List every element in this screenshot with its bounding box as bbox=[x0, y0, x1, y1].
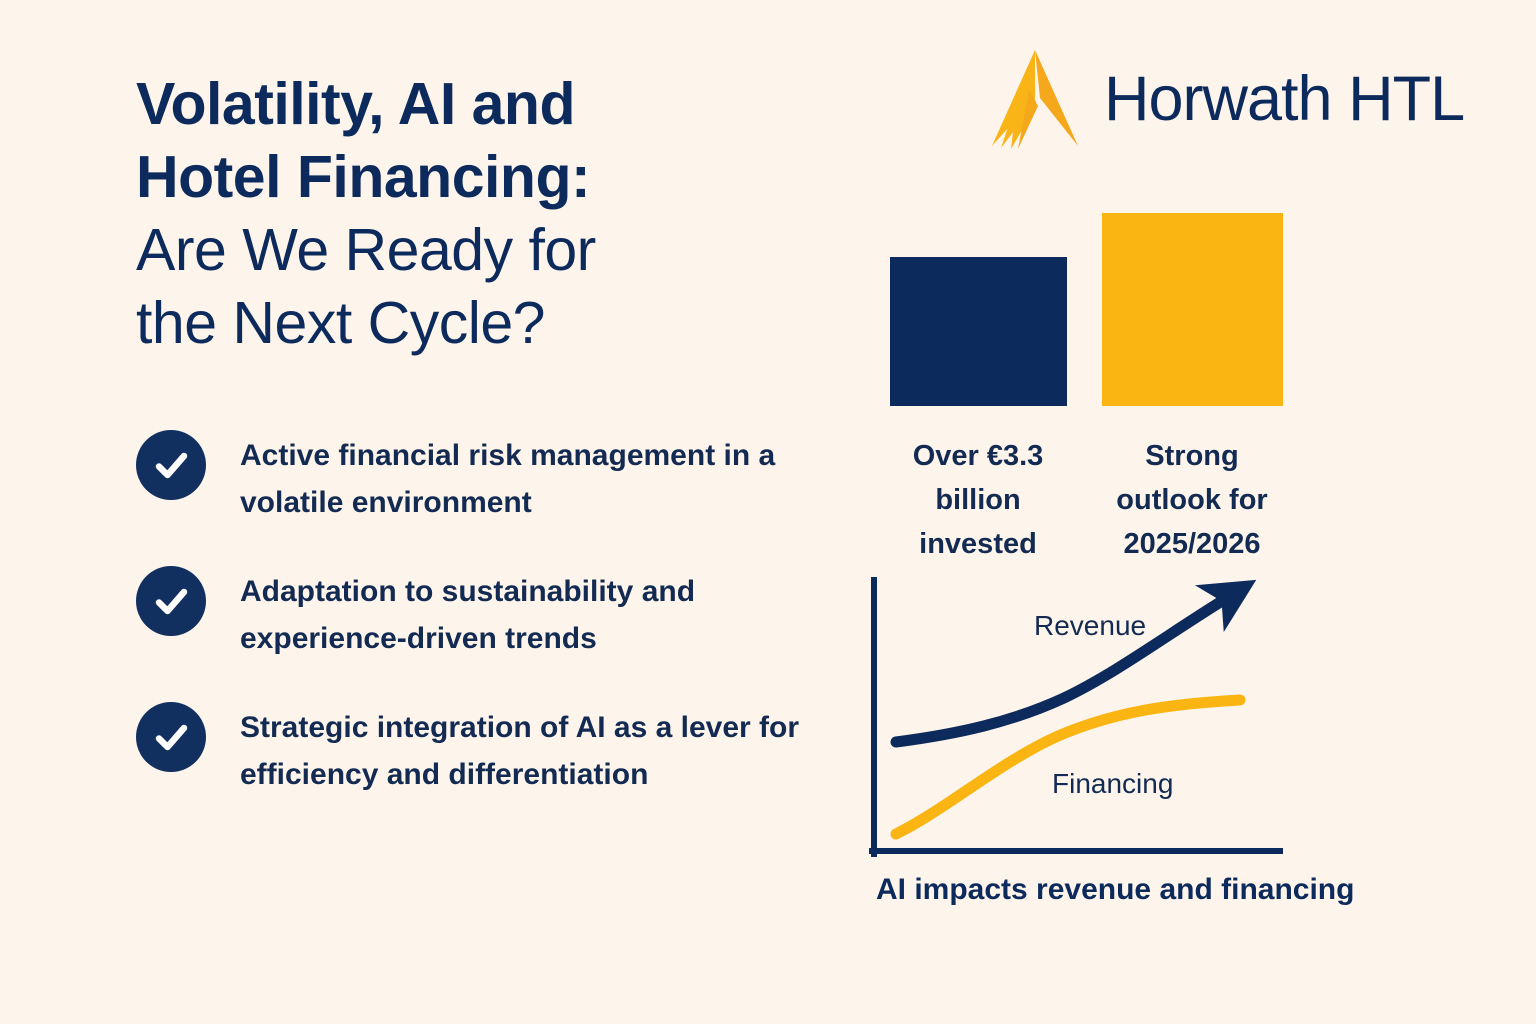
headline-line-2: Hotel Financing: bbox=[136, 141, 836, 214]
horwath-peak-logo-icon bbox=[978, 46, 1086, 152]
stat-caption: Over €3.3 billion invested bbox=[880, 434, 1076, 566]
stat-swatch-navy bbox=[890, 257, 1067, 406]
list-item-label: Strategic integration of AI as a lever f… bbox=[240, 700, 815, 798]
chart-caption: AI impacts revenue and financing bbox=[876, 873, 1354, 907]
list-item: Active financial risk management in a vo… bbox=[136, 428, 836, 526]
stat-caption: Strong outlook for 2025/2026 bbox=[1094, 434, 1290, 566]
brand-logo: Horwath HTL bbox=[978, 46, 1464, 152]
chart-label-revenue: Revenue bbox=[1034, 610, 1146, 642]
key-points-list: Active financial risk management in a vo… bbox=[136, 428, 836, 836]
chart-series-financing bbox=[896, 700, 1240, 834]
line-chart: Revenue Financing bbox=[862, 572, 1292, 862]
headline-line-3: Are We Ready for bbox=[136, 214, 836, 287]
left-content-column: Volatility, AI and Hotel Financing: Are … bbox=[136, 68, 836, 360]
headline-line-1: Volatility, AI and bbox=[136, 68, 836, 141]
list-item: Strategic integration of AI as a lever f… bbox=[136, 700, 836, 798]
chart-label-financing: Financing bbox=[1052, 768, 1173, 800]
infographic-canvas: Volatility, AI and Hotel Financing: Are … bbox=[0, 0, 1536, 1024]
stat-swatch-yellow bbox=[1102, 213, 1283, 406]
list-item-label: Adaptation to sustainability and experie… bbox=[240, 564, 815, 662]
check-circle-icon bbox=[136, 566, 206, 636]
headline-line-4: the Next Cycle? bbox=[136, 287, 836, 360]
check-circle-icon bbox=[136, 702, 206, 772]
stat-block-outlook: Strong outlook for 2025/2026 bbox=[1094, 205, 1290, 566]
check-circle-icon bbox=[136, 430, 206, 500]
list-item: Adaptation to sustainability and experie… bbox=[136, 564, 836, 662]
page-title: Volatility, AI and Hotel Financing: Are … bbox=[136, 68, 836, 360]
stat-block-investment: Over €3.3 billion invested bbox=[880, 205, 1076, 566]
brand-wordmark: Horwath HTL bbox=[1104, 68, 1464, 131]
list-item-label: Active financial risk management in a vo… bbox=[240, 428, 815, 526]
